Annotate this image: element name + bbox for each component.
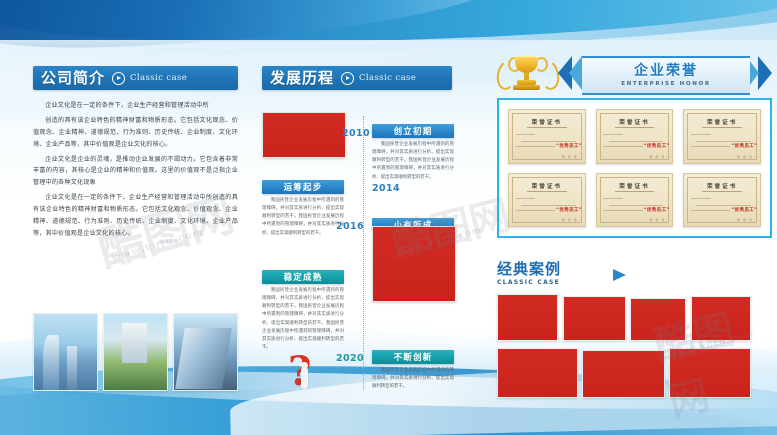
certificate-title: 荣誉证书 [597, 118, 673, 126]
certificate-date: 年 月 日 [737, 218, 753, 222]
case-image-2[interactable] [563, 296, 626, 341]
play-circle-icon [112, 72, 125, 85]
play-circle-icon [341, 72, 354, 85]
company-profile-column: 公司简介 Classic case 企业文化是在一定的条件下，企业生产经营和管理… [33, 66, 238, 243]
section-title-cn: 发展历程 [270, 71, 334, 86]
classic-case-header: 经典案例 CLASSIC CASE [497, 262, 737, 290]
honor-banner-body: 企业荣誉 ENTERPRISE HONOR [582, 56, 750, 95]
certificate-date: 年 月 日 [737, 155, 753, 159]
company-photo-strip [33, 313, 238, 391]
enterprise-honor-header: 企业荣誉 ENTERPRISE HONOR [494, 54, 775, 98]
honor-title-cn: 企业荣誉 [634, 64, 698, 78]
timeline-content: 创立初期 我国民营企业发展历程中所遇到的管理障碍，并对其实质进行分析、提出实现顺… [372, 124, 454, 182]
profile-paragraph: 企业文化是企业的灵魂，是推动企业发展的不竭动力。它包含着非常丰富的内容，其核心是… [33, 154, 238, 190]
timeline: 2010 创立初期 我国民营企业发展历程中所遇到的管理障碍，并对其实质进行分析、… [262, 112, 454, 394]
section-title-en: Classic case [130, 73, 187, 83]
certificate-award: “优秀员工” [556, 207, 582, 213]
profile-paragraph: 企业文化是在一定的条件下，企业生产经营和管理活动中所创造的具有该企业特色的精神财… [33, 192, 238, 240]
office-building-photo [103, 313, 168, 391]
case-image-7[interactable] [669, 348, 751, 398]
certificate-title: 荣誉证书 [597, 182, 673, 190]
timeline-label: 创立初期 [372, 124, 454, 138]
certificate-card[interactable]: 荣誉证书 “优秀员工” 年 月 日 [683, 109, 761, 164]
profile-paragraph: 企业文化是在一定的条件下，企业生产经营和管理活动中所 [33, 100, 238, 112]
timeline-text: 我国民营企业发展历程中所遇到的管理障碍，并对其实质进行分析、提出实现顺利转型的若… [372, 141, 454, 182]
timeline-year: 2020 [336, 353, 364, 364]
certificate-title: 荣誉证书 [509, 182, 585, 190]
certificate-card[interactable]: 荣誉证书 “优秀员工” 年 月 日 [508, 109, 586, 164]
timeline-image [262, 112, 346, 158]
timeline-year: 2014 [372, 183, 400, 194]
timeline-label: 稳定成熟 [262, 270, 344, 284]
certificate-grid: 荣誉证书 “优秀员工” 年 月 日 荣誉证书 “优秀员工” 年 月 日 [508, 109, 761, 227]
certificate-card[interactable]: 荣誉证书 “优秀员工” 年 月 日 [508, 173, 586, 228]
timeline-text: 我国民营企业发展历程中所遇到的管理障碍，并对其实质进行分析、提出实现顺利转型的若… [372, 367, 454, 391]
trophy-icon [498, 54, 554, 98]
timeline-label: 运筹起步 [262, 180, 344, 194]
case-image-6[interactable] [582, 350, 665, 398]
certificate-award: “优秀员工” [556, 143, 582, 149]
question-mark-graphic: ? [288, 352, 322, 396]
certificate-award: “优秀员工” [644, 143, 670, 149]
glass-tower-photo [173, 313, 238, 391]
certificate-title: 荣誉证书 [684, 182, 760, 190]
profile-paragraph: 创造的具有该企业特色的精神财富和物质形态。它包括文化观念、价值观念、企业精神、道… [33, 115, 238, 151]
timeline-year: 2010 [342, 128, 370, 139]
case-image-4[interactable] [691, 296, 751, 341]
honor-title-en: ENTERPRISE HONOR [621, 81, 711, 87]
case-image-3[interactable] [630, 298, 686, 341]
certificate-award: “优秀员工” [731, 143, 757, 149]
certificate-card[interactable]: 荣誉证书 “优秀员工” 年 月 日 [683, 173, 761, 228]
chevron-left-icon [569, 56, 582, 90]
timeline-content: 稳定成熟 我国民营企业发展历程中所遇到的管理障碍，并对其实质进行分析、提出实现顺… [262, 270, 344, 352]
certificate-date: 年 月 日 [649, 155, 665, 159]
certificate-card[interactable]: 荣誉证书 “优秀员工” 年 月 日 [596, 109, 674, 164]
timeline-year: 2016 [336, 221, 364, 232]
development-history-column: 发展历程 Classic case [262, 66, 452, 90]
honor-banner: 企业荣誉 ENTERPRISE HONOR [558, 56, 772, 91]
certificate-date: 年 月 日 [562, 155, 578, 159]
timeline-content: 运筹起步 我国民营企业发展历程中所遇到的管理障碍，并对其实质进行分析、提出实现顺… [262, 180, 344, 238]
certificate-title: 荣誉证书 [509, 118, 585, 126]
classic-case-grid [497, 294, 773, 404]
certificate-award: “优秀员工” [731, 207, 757, 213]
timeline-image [372, 226, 456, 302]
timeline-axis [363, 116, 364, 390]
timeline-content: 不断创新 我国民营企业发展历程中所遇到的管理障碍，并对其实质进行分析、提出实现顺… [372, 350, 454, 391]
certificate-date: 年 月 日 [562, 218, 578, 222]
company-profile-header: 公司简介 Classic case [33, 66, 238, 90]
figure-body [301, 367, 308, 389]
poster-canvas: 公司简介 Classic case 企业文化是在一定的条件下，企业生产经营和管理… [0, 0, 777, 435]
certificate-card[interactable]: 荣誉证书 “优秀员工” 年 月 日 [596, 173, 674, 228]
chevron-right-icon [758, 56, 772, 90]
triangle-right-icon [613, 269, 626, 281]
case-image-5[interactable] [497, 348, 578, 398]
timeline-text: 我国民营企业发展历程中所遇到的管理障碍，并对其实质进行分析、提出实现顺利转型的若… [262, 197, 344, 238]
company-profile-body: 企业文化是在一定的条件下，企业生产经营和管理活动中所 创造的具有该企业特色的精神… [33, 100, 238, 240]
section-title-en: Classic case [359, 73, 416, 83]
certificate-date: 年 月 日 [649, 218, 665, 222]
certificate-title: 荣誉证书 [684, 118, 760, 126]
certificate-award: “优秀员工” [644, 207, 670, 213]
timeline-text: 我国民营企业发展历程中所遇到的管理障碍，并对其实质进行分析、提出实现顺利转型的若… [262, 287, 344, 352]
case-image-1[interactable] [497, 294, 558, 341]
certificate-panel: 荣誉证书 “优秀员工” 年 月 日 荣誉证书 “优秀员工” 年 月 日 [497, 98, 772, 238]
section-title-cn: 公司简介 [41, 71, 105, 86]
timeline-label: 不断创新 [372, 350, 454, 364]
city-skyline-photo [33, 313, 98, 391]
development-history-header: 发展历程 Classic case [262, 66, 452, 90]
